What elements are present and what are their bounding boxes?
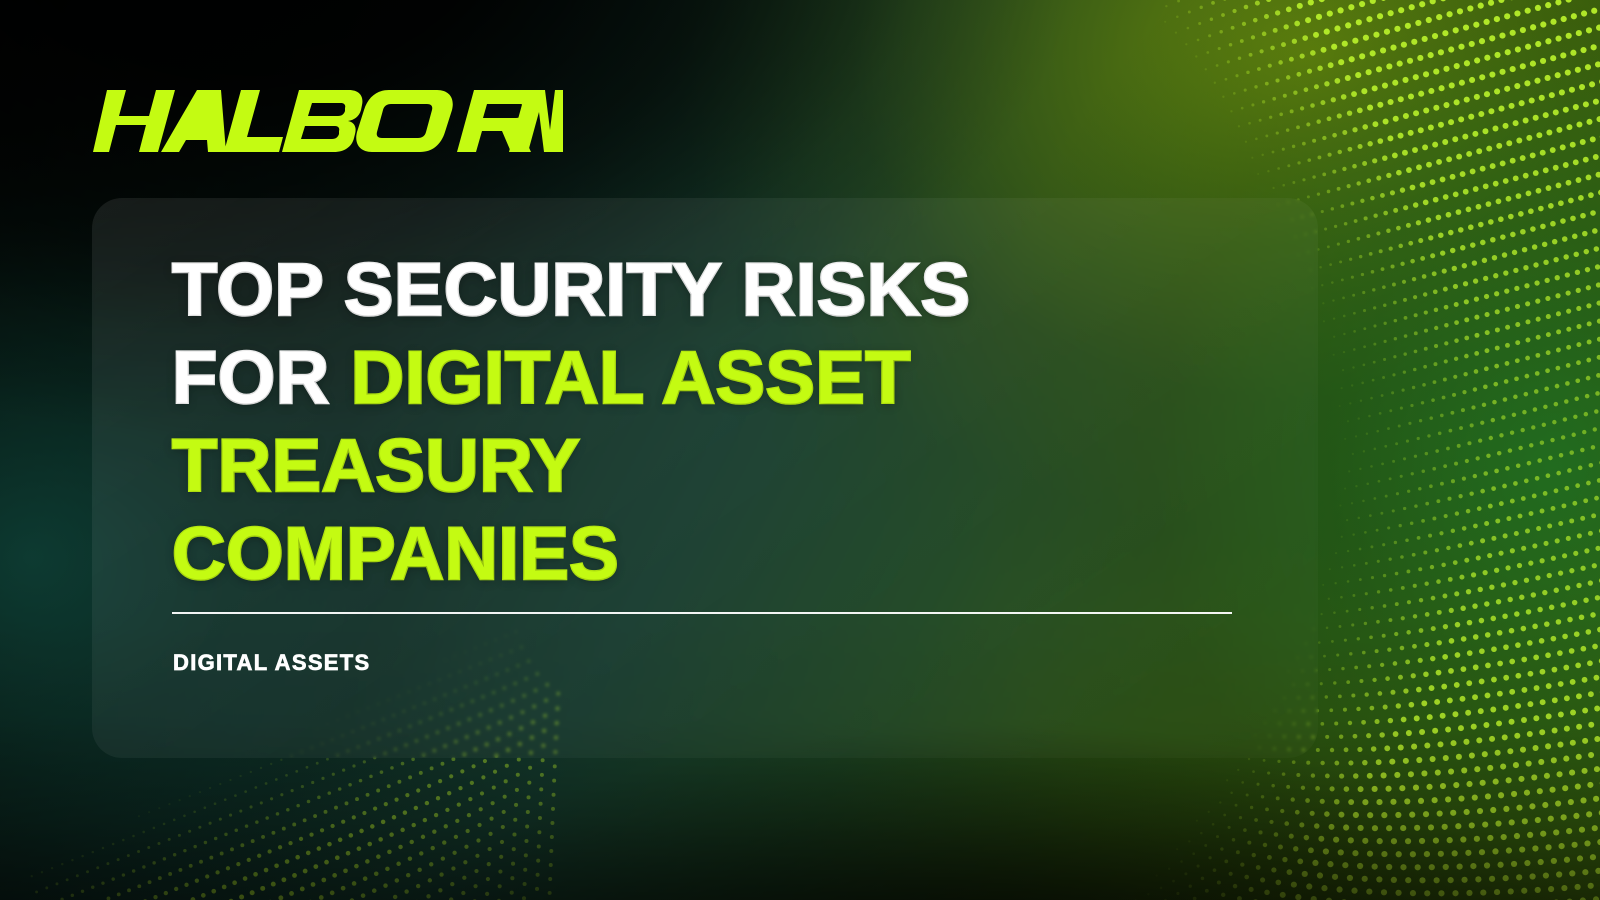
page-title-line-3: TREASURY	[172, 422, 1232, 510]
halborn-logo-wordmark	[93, 90, 563, 152]
page-title-segment-4-1: COMPANIES	[172, 512, 619, 595]
page-title-segment-2-1: FOR	[172, 336, 351, 419]
headline-divider	[172, 612, 1232, 614]
hero-banner: TOP SECURITY RISKSFOR DIGITAL ASSETTREAS…	[0, 0, 1600, 900]
page-title-line-4: COMPANIES	[172, 510, 1232, 598]
page-title: TOP SECURITY RISKSFOR DIGITAL ASSETTREAS…	[172, 246, 1232, 598]
category-label: DIGITAL ASSETS	[173, 650, 370, 676]
page-title-segment-2-2: DIGITAL ASSET	[351, 336, 911, 419]
halborn-logo[interactable]	[93, 90, 563, 152]
hero-glass-card: TOP SECURITY RISKSFOR DIGITAL ASSETTREAS…	[92, 198, 1318, 758]
hero-card-content: TOP SECURITY RISKSFOR DIGITAL ASSETTREAS…	[172, 246, 1318, 758]
page-title-line-1: TOP SECURITY RISKS	[172, 246, 1232, 334]
page-title-segment-1-1: TOP SECURITY RISKS	[172, 248, 971, 331]
page-title-line-2: FOR DIGITAL ASSET	[172, 334, 1232, 422]
page-title-segment-3-1: TREASURY	[172, 424, 580, 507]
